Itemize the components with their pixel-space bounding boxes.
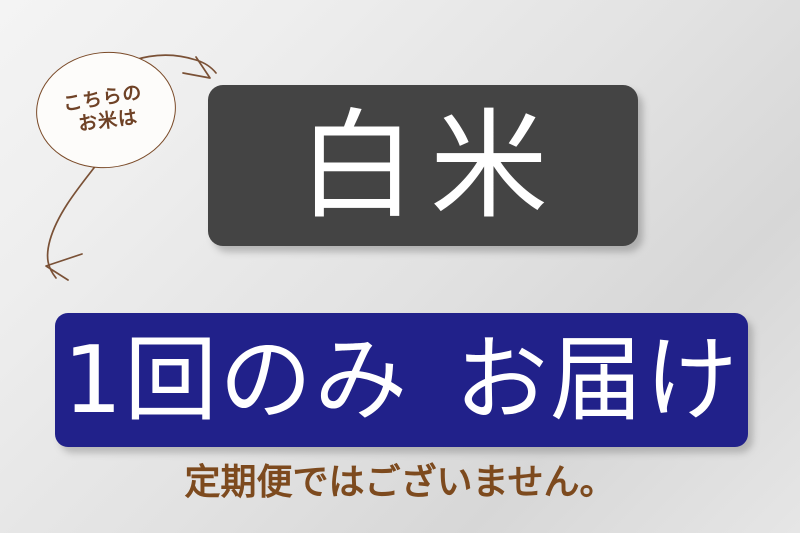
delivery-action-label: お届け (455, 326, 740, 434)
promo-banner-root: こちらの お米は 白米 1回のみ お届け 定期便ではございません。 (0, 0, 800, 533)
label-spacer (409, 326, 455, 434)
product-type-badge: 白米 (208, 85, 638, 246)
subscription-disclaimer-caption: 定期便ではございません。 (0, 453, 800, 505)
top-arrow-head (183, 57, 210, 78)
bottom-arrow-head (46, 254, 82, 280)
bottom-arrow-path (48, 164, 97, 278)
delivery-frequency-label: 1回のみ お届け (63, 334, 740, 427)
delivery-count-label: 1回のみ (63, 326, 409, 434)
callout-bubble: こちらの お米は (30, 45, 181, 175)
delivery-frequency-banner: 1回のみ お届け (55, 313, 748, 447)
product-type-label: 白米 (284, 107, 562, 225)
callout-line-2: お米は (77, 108, 139, 135)
callout-bubble-text: こちらの お米は (30, 45, 181, 175)
